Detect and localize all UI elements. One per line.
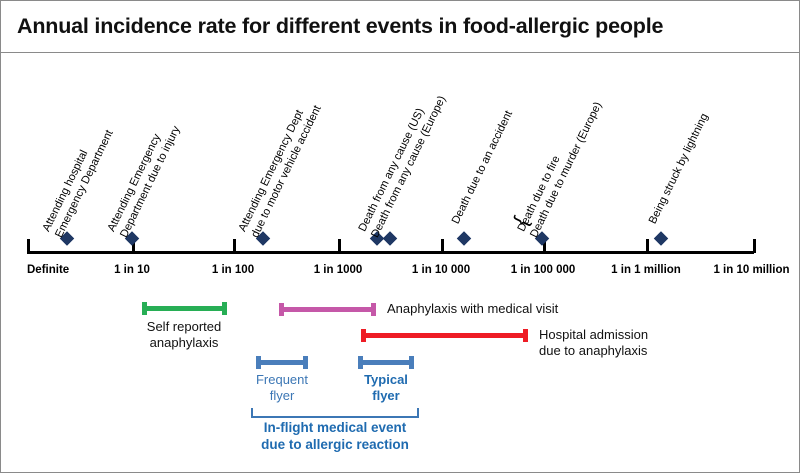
range-bar-cap-end bbox=[303, 356, 308, 369]
range-bar-cap-start bbox=[256, 356, 261, 369]
event-marker-diamond bbox=[458, 232, 471, 245]
range-label-anaphylaxis-with-medical-visit: Anaphylaxis with medical visit bbox=[387, 301, 558, 317]
range-label-line: Anaphylaxis with medical visit bbox=[387, 301, 558, 317]
axis-tick-label: 1 in 10 000 bbox=[412, 264, 470, 276]
range-bar-cap-end bbox=[222, 302, 227, 315]
in-flight-bracket bbox=[251, 408, 419, 418]
range-label-typical-flyer: Typicalflyer bbox=[364, 372, 408, 403]
event-label-line: Death from any cause (Europe) bbox=[369, 94, 450, 240]
event-label-attending-emergency-department-due-to-injury: Attending EmergencyDepartment due to inj… bbox=[106, 118, 184, 240]
range-label-line: Frequent bbox=[256, 372, 308, 388]
axis-line bbox=[27, 251, 754, 254]
axis-tick bbox=[753, 239, 756, 253]
event-label-attending-hospital-emergency-department: Attending hospitalEmergency Department bbox=[41, 122, 117, 240]
range-label-line: Typical bbox=[364, 372, 408, 388]
event-marker-diamond bbox=[655, 232, 668, 245]
axis-tick-label: 1 in 100 000 bbox=[511, 264, 576, 276]
axis-tick-label: 1 in 1000 bbox=[314, 264, 363, 276]
axis-tick-label: 1 in 1 million bbox=[611, 264, 681, 276]
event-label-being-struck-by-lightning: Being struck by lightning bbox=[647, 112, 712, 227]
axis-tick-label: 1 in 100 bbox=[212, 264, 254, 276]
event-label-death-due-to-an-accident: Death due to an accident bbox=[450, 109, 517, 227]
range-bar-cap-start bbox=[279, 303, 284, 316]
range-label-hospital-admission-due-to-anaphylaxis: Hospital admissiondue to anaphylaxis bbox=[539, 327, 648, 358]
range-label-line: Hospital admission bbox=[539, 327, 648, 343]
figure-title-bar: Annual incidence rate for different even… bbox=[1, 1, 800, 53]
in-flight-bracket-label-line: due to allergic reaction bbox=[261, 436, 409, 453]
infographic-figure: Annual incidence rate for different even… bbox=[0, 0, 800, 473]
event-label-line: Being struck by lightning bbox=[647, 112, 712, 227]
axis-tick-label: 1 in 10 bbox=[114, 264, 150, 276]
range-bar-hospital-admission-due-to-anaphylaxis bbox=[361, 333, 528, 338]
range-label-line: anaphylaxis bbox=[147, 335, 221, 351]
page-title: Annual incidence rate for different even… bbox=[1, 14, 663, 39]
axis-tick-label: Definite bbox=[27, 264, 69, 276]
event-label-death-from-any-cause: Death from any cause (US)Death from any … bbox=[357, 88, 450, 240]
event-label-line: Attending Emergency Dept bbox=[237, 97, 313, 234]
event-label-line: Death due to an accident bbox=[450, 109, 517, 227]
axis-tick bbox=[646, 239, 649, 253]
range-bar-cap-end bbox=[409, 356, 414, 369]
axis-tick-label: 1 in 10 million bbox=[713, 264, 789, 276]
axis-tick bbox=[441, 239, 444, 253]
range-bar-cap-start bbox=[361, 329, 366, 342]
range-bar-cap-start bbox=[142, 302, 147, 315]
range-label-self-reported-anaphylaxis: Self reportedanaphylaxis bbox=[147, 319, 221, 350]
range-bar-frequent-flyer bbox=[256, 360, 308, 365]
range-label-line: due to anaphylaxis bbox=[539, 343, 648, 359]
axis-tick bbox=[233, 239, 236, 253]
range-bar-anaphylaxis-with-medical-visit bbox=[279, 307, 376, 312]
range-label-frequent-flyer: Frequentflyer bbox=[256, 372, 308, 403]
event-label-attending-emergency-dept-due-to-motor-vehicle-accident: Attending Emergency Deptdue to motor veh… bbox=[237, 97, 325, 240]
axis-tick bbox=[338, 239, 341, 253]
event-label-death-due-to-fire-and-murder: Death due to fireDeath due to murder (Eu… bbox=[516, 94, 606, 240]
range-bar-cap-end bbox=[371, 303, 376, 316]
axis-tick bbox=[27, 239, 30, 253]
in-flight-bracket-label-line: In-flight medical event bbox=[261, 419, 409, 436]
in-flight-bracket-label: In-flight medical eventdue to allergic r… bbox=[261, 419, 409, 453]
event-marker-diamond bbox=[384, 232, 397, 245]
range-label-line: flyer bbox=[364, 388, 408, 404]
range-bar-self-reported-anaphylaxis bbox=[142, 306, 227, 311]
range-bar-cap-end bbox=[523, 329, 528, 342]
event-label-line: Death due to fire bbox=[516, 94, 594, 234]
range-bar-typical-flyer bbox=[358, 360, 414, 365]
range-label-line: flyer bbox=[256, 388, 308, 404]
range-bar-cap-start bbox=[358, 356, 363, 369]
range-label-line: Self reported bbox=[147, 319, 221, 335]
event-label-line: Death from any cause (US) bbox=[357, 88, 438, 234]
